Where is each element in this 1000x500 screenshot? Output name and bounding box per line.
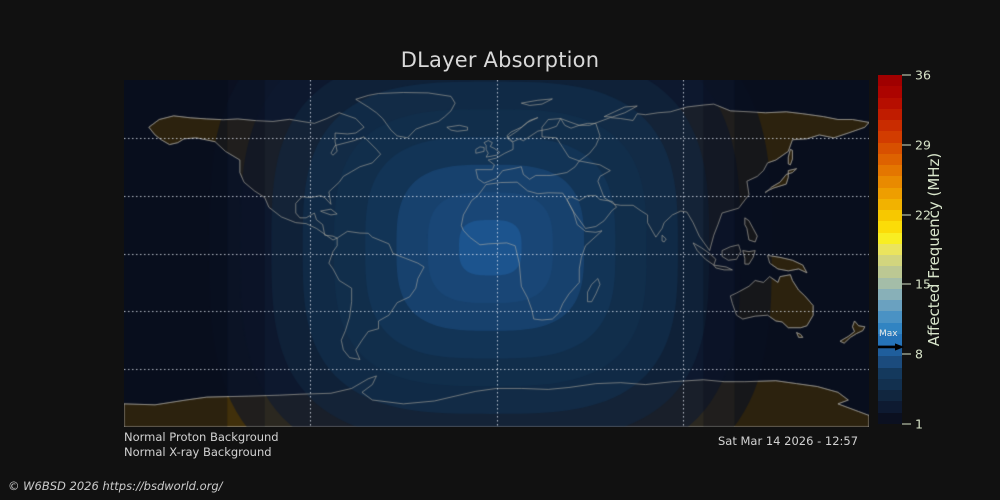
colorbar-band xyxy=(878,188,902,199)
colorbar-band xyxy=(878,120,902,131)
colorbar-band xyxy=(878,199,902,210)
tick-dash xyxy=(902,284,911,285)
colorbar xyxy=(878,75,902,424)
colorbar-band xyxy=(878,368,902,379)
colorbar-band xyxy=(878,176,902,187)
copyright-footer: © W6BSD 2026 https://bsdworld.org/ xyxy=(8,479,223,493)
colorbar-band xyxy=(878,131,902,142)
max-arrow-icon xyxy=(878,343,904,351)
proton-background-note: Normal Proton Background xyxy=(124,430,279,444)
colorbar-band xyxy=(878,300,902,311)
xray-background-note: Normal X-ray Background xyxy=(124,445,272,459)
colorbar-max-marker: Max xyxy=(878,331,904,353)
timestamp: Sat Mar 14 2026 - 12:57 xyxy=(718,434,858,448)
colorbar-band xyxy=(878,165,902,176)
colorbar-band xyxy=(878,98,902,109)
colorbar-band xyxy=(878,255,902,266)
colorbar-band xyxy=(878,401,902,412)
map-canvas xyxy=(124,80,869,427)
colorbar-band xyxy=(878,244,902,255)
colorbar-band xyxy=(878,210,902,221)
world-map xyxy=(124,80,869,427)
colorbar-band xyxy=(878,289,902,300)
tick-dash xyxy=(902,214,911,215)
colorbar-band xyxy=(878,390,902,401)
colorbar-band xyxy=(878,266,902,277)
dlayer-absorption-screen: DLayer Absorption 3629221581 Max Affecte… xyxy=(0,0,1000,500)
colorbar-band xyxy=(878,221,902,232)
colorbar-band xyxy=(878,75,902,86)
colorbar-band xyxy=(878,154,902,165)
page-title: DLayer Absorption xyxy=(0,48,1000,72)
tick-dash xyxy=(902,354,911,355)
colorbar-band xyxy=(878,311,902,322)
tick-dash xyxy=(902,424,911,425)
max-label: Max xyxy=(879,330,898,339)
colorbar-band xyxy=(878,379,902,390)
colorbar-axis-label: Affected Frequency (MHz) xyxy=(922,75,946,424)
colorbar-tick: 1 xyxy=(902,417,923,432)
colorbar-band xyxy=(878,143,902,154)
colorbar-band xyxy=(878,278,902,289)
colorbar-tick: 8 xyxy=(902,347,923,362)
colorbar-band xyxy=(878,233,902,244)
colorbar-band xyxy=(878,356,902,367)
colorbar-band xyxy=(878,109,902,120)
tick-dash xyxy=(902,144,911,145)
colorbar-gradient xyxy=(878,75,902,424)
colorbar-band xyxy=(878,413,902,424)
colorbar-band xyxy=(878,86,902,97)
tick-dash xyxy=(902,75,911,76)
